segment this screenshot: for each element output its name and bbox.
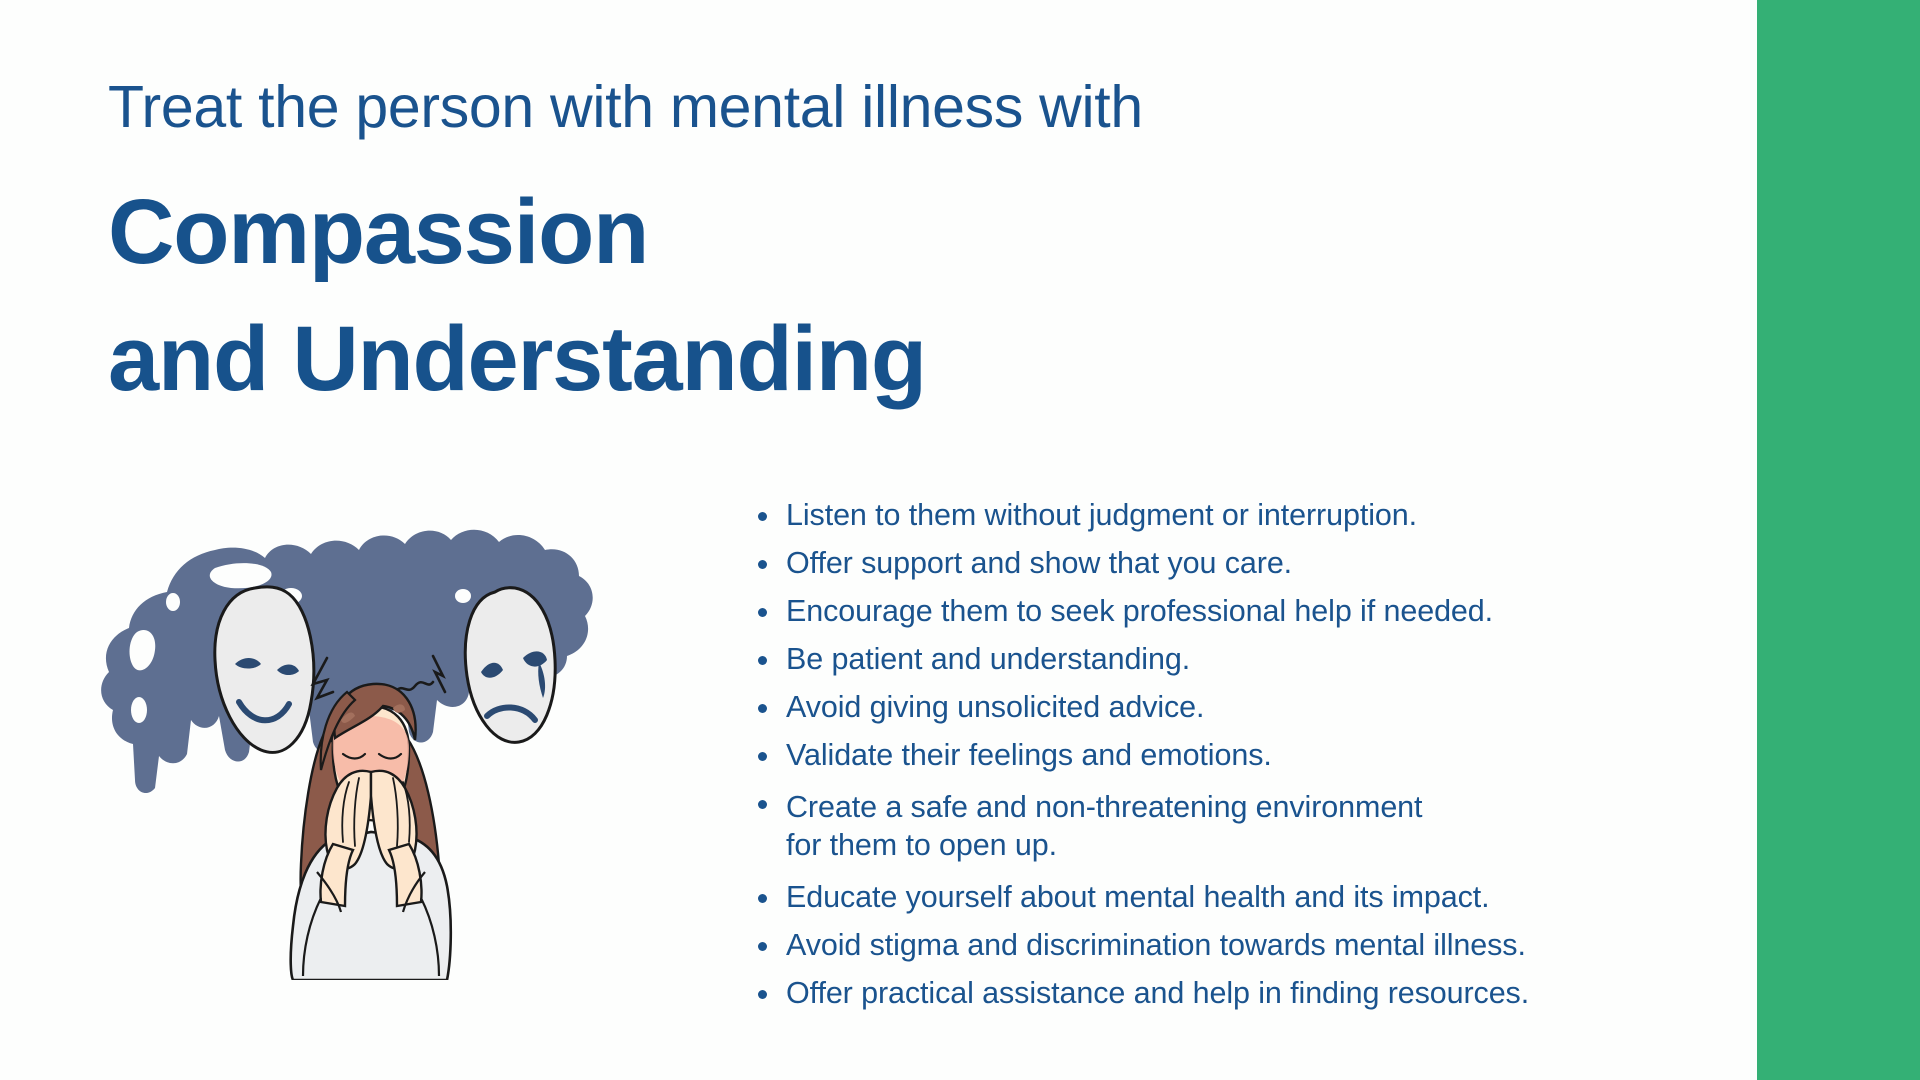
illustration-woman-covering-face (95, 420, 615, 980)
list-item: Avoid giving unsolicited advice. (750, 692, 1570, 723)
headline-word-compassion: Compassion (108, 181, 1408, 284)
sad-mask-icon (465, 588, 555, 743)
list-item: Create a safe and non-threatening enviro… (750, 788, 1570, 865)
slide-canvas: Treat the person with mental illness wit… (0, 0, 1920, 1080)
heading-block: Treat the person with mental illness wit… (108, 78, 1408, 411)
list-item: Offer practical assistance and help in f… (750, 978, 1570, 1009)
list-item: Avoid stigma and discrimination towards … (750, 930, 1570, 961)
right-accent-bar (1757, 0, 1920, 1080)
list-item: Be patient and understanding. (750, 644, 1570, 675)
list-item: Offer support and show that you care. (750, 548, 1570, 579)
list-item: Listen to them without judgment or inter… (750, 500, 1570, 531)
list-item: Encourage them to seek professional help… (750, 596, 1570, 627)
list-item: Educate yourself about mental health and… (750, 882, 1570, 913)
headline-word-and-understanding: and Understanding (108, 308, 1408, 411)
list-item: Validate their feelings and emotions. (750, 740, 1570, 771)
guidance-bullet-list: Listen to them without judgment or inter… (750, 500, 1570, 1026)
headline-subtitle: Treat the person with mental illness wit… (108, 78, 1408, 137)
